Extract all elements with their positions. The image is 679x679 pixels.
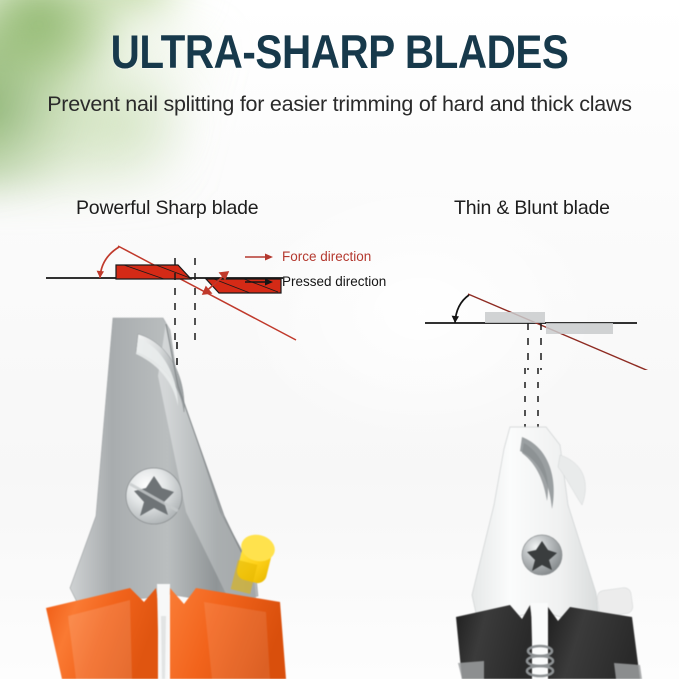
arrow-right-icon [244, 251, 274, 263]
arrow-right-icon [244, 276, 274, 288]
page-title: ULTRA-SHARP BLADES [48, 24, 632, 79]
legend-label-force: Force direction [282, 249, 371, 264]
blade-lower [546, 323, 613, 334]
handle-gloss-right [204, 602, 270, 679]
legend-item-force: Force direction [244, 244, 386, 269]
header: ULTRA-SHARP BLADES Prevent nail splittin… [0, 0, 679, 117]
product-image-sharp-clipper [18, 316, 318, 679]
panel-heading-right: Thin & Blunt blade [454, 197, 610, 220]
page-subtitle: Prevent nail splitting for easier trimmi… [0, 92, 679, 117]
handle-grip-right [614, 663, 642, 679]
promo-banner: ULTRA-SHARP BLADES Prevent nail splittin… [0, 0, 679, 679]
legend: Force direction Pressed direction [244, 244, 386, 294]
legend-item-pressed: Pressed direction [244, 269, 386, 294]
diagram-blunt-blade [415, 285, 665, 370]
legend-label-pressed: Pressed direction [282, 274, 386, 289]
product-image-blunt-clipper [418, 375, 668, 679]
blade-upper [485, 312, 545, 323]
blade-upper [116, 265, 191, 279]
angle-arc-arrowhead [452, 316, 459, 323]
panel-heading-left: Powerful Sharp blade [76, 197, 258, 220]
angle-arc-arrowhead [97, 271, 104, 278]
alignment-guides [528, 323, 541, 370]
handle-grip-left [458, 661, 484, 679]
